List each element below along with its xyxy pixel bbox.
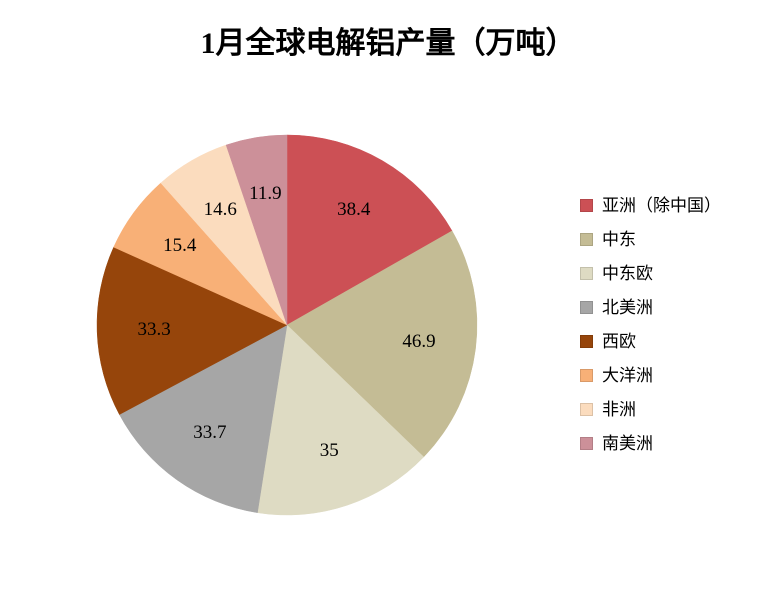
legend-item-label: 大洋洲 <box>602 367 653 384</box>
pie-chart-figure: 1月全球电解铝产量（万吨） 38.446.93533.733.315.414.6… <box>0 0 776 593</box>
legend-item-label: 中东欧 <box>602 265 653 282</box>
legend-item-label: 非洲 <box>602 401 636 418</box>
legend-color-swatch-icon <box>580 301 593 314</box>
legend-color-swatch-icon <box>580 437 593 450</box>
legend-item[interactable]: 大洋洲 <box>580 358 770 392</box>
legend-item[interactable]: 南美洲 <box>580 426 770 460</box>
chart-legend: 亚洲（除中国）中东中东欧北美洲西欧大洋洲非洲南美洲 <box>580 188 770 460</box>
pie-slice-value-label: 35 <box>320 440 339 462</box>
chart-title: 1月全球电解铝产量（万吨） <box>0 18 776 62</box>
pie-slice-value-label: 11.9 <box>249 183 282 205</box>
pie-slice-value-label: 33.7 <box>193 422 226 444</box>
legend-item[interactable]: 北美洲 <box>580 290 770 324</box>
legend-color-swatch-icon <box>580 267 593 280</box>
legend-color-swatch-icon <box>580 335 593 348</box>
legend-item-label: 北美洲 <box>602 299 653 316</box>
pie-plot-area: 38.446.93533.733.315.414.611.9 <box>92 110 512 540</box>
legend-color-swatch-icon <box>580 199 593 212</box>
pie-slice-value-label: 15.4 <box>163 235 196 257</box>
legend-item-label: 亚洲（除中国） <box>602 197 721 214</box>
legend-item-label: 中东 <box>602 231 636 248</box>
legend-color-swatch-icon <box>580 233 593 246</box>
legend-item[interactable]: 非洲 <box>580 392 770 426</box>
pie-slice-value-label: 33.3 <box>137 319 170 341</box>
legend-item-label: 西欧 <box>602 333 636 350</box>
legend-color-swatch-icon <box>580 369 593 382</box>
legend-item[interactable]: 亚洲（除中国） <box>580 188 770 222</box>
legend-item-label: 南美洲 <box>602 435 653 452</box>
pie-slice-value-label: 14.6 <box>204 199 237 221</box>
pie-slice-value-label: 46.9 <box>402 331 435 353</box>
legend-item[interactable]: 中东欧 <box>580 256 770 290</box>
legend-color-swatch-icon <box>580 403 593 416</box>
legend-item[interactable]: 中东 <box>580 222 770 256</box>
legend-item[interactable]: 西欧 <box>580 324 770 358</box>
pie-slice-value-label: 38.4 <box>337 199 370 221</box>
